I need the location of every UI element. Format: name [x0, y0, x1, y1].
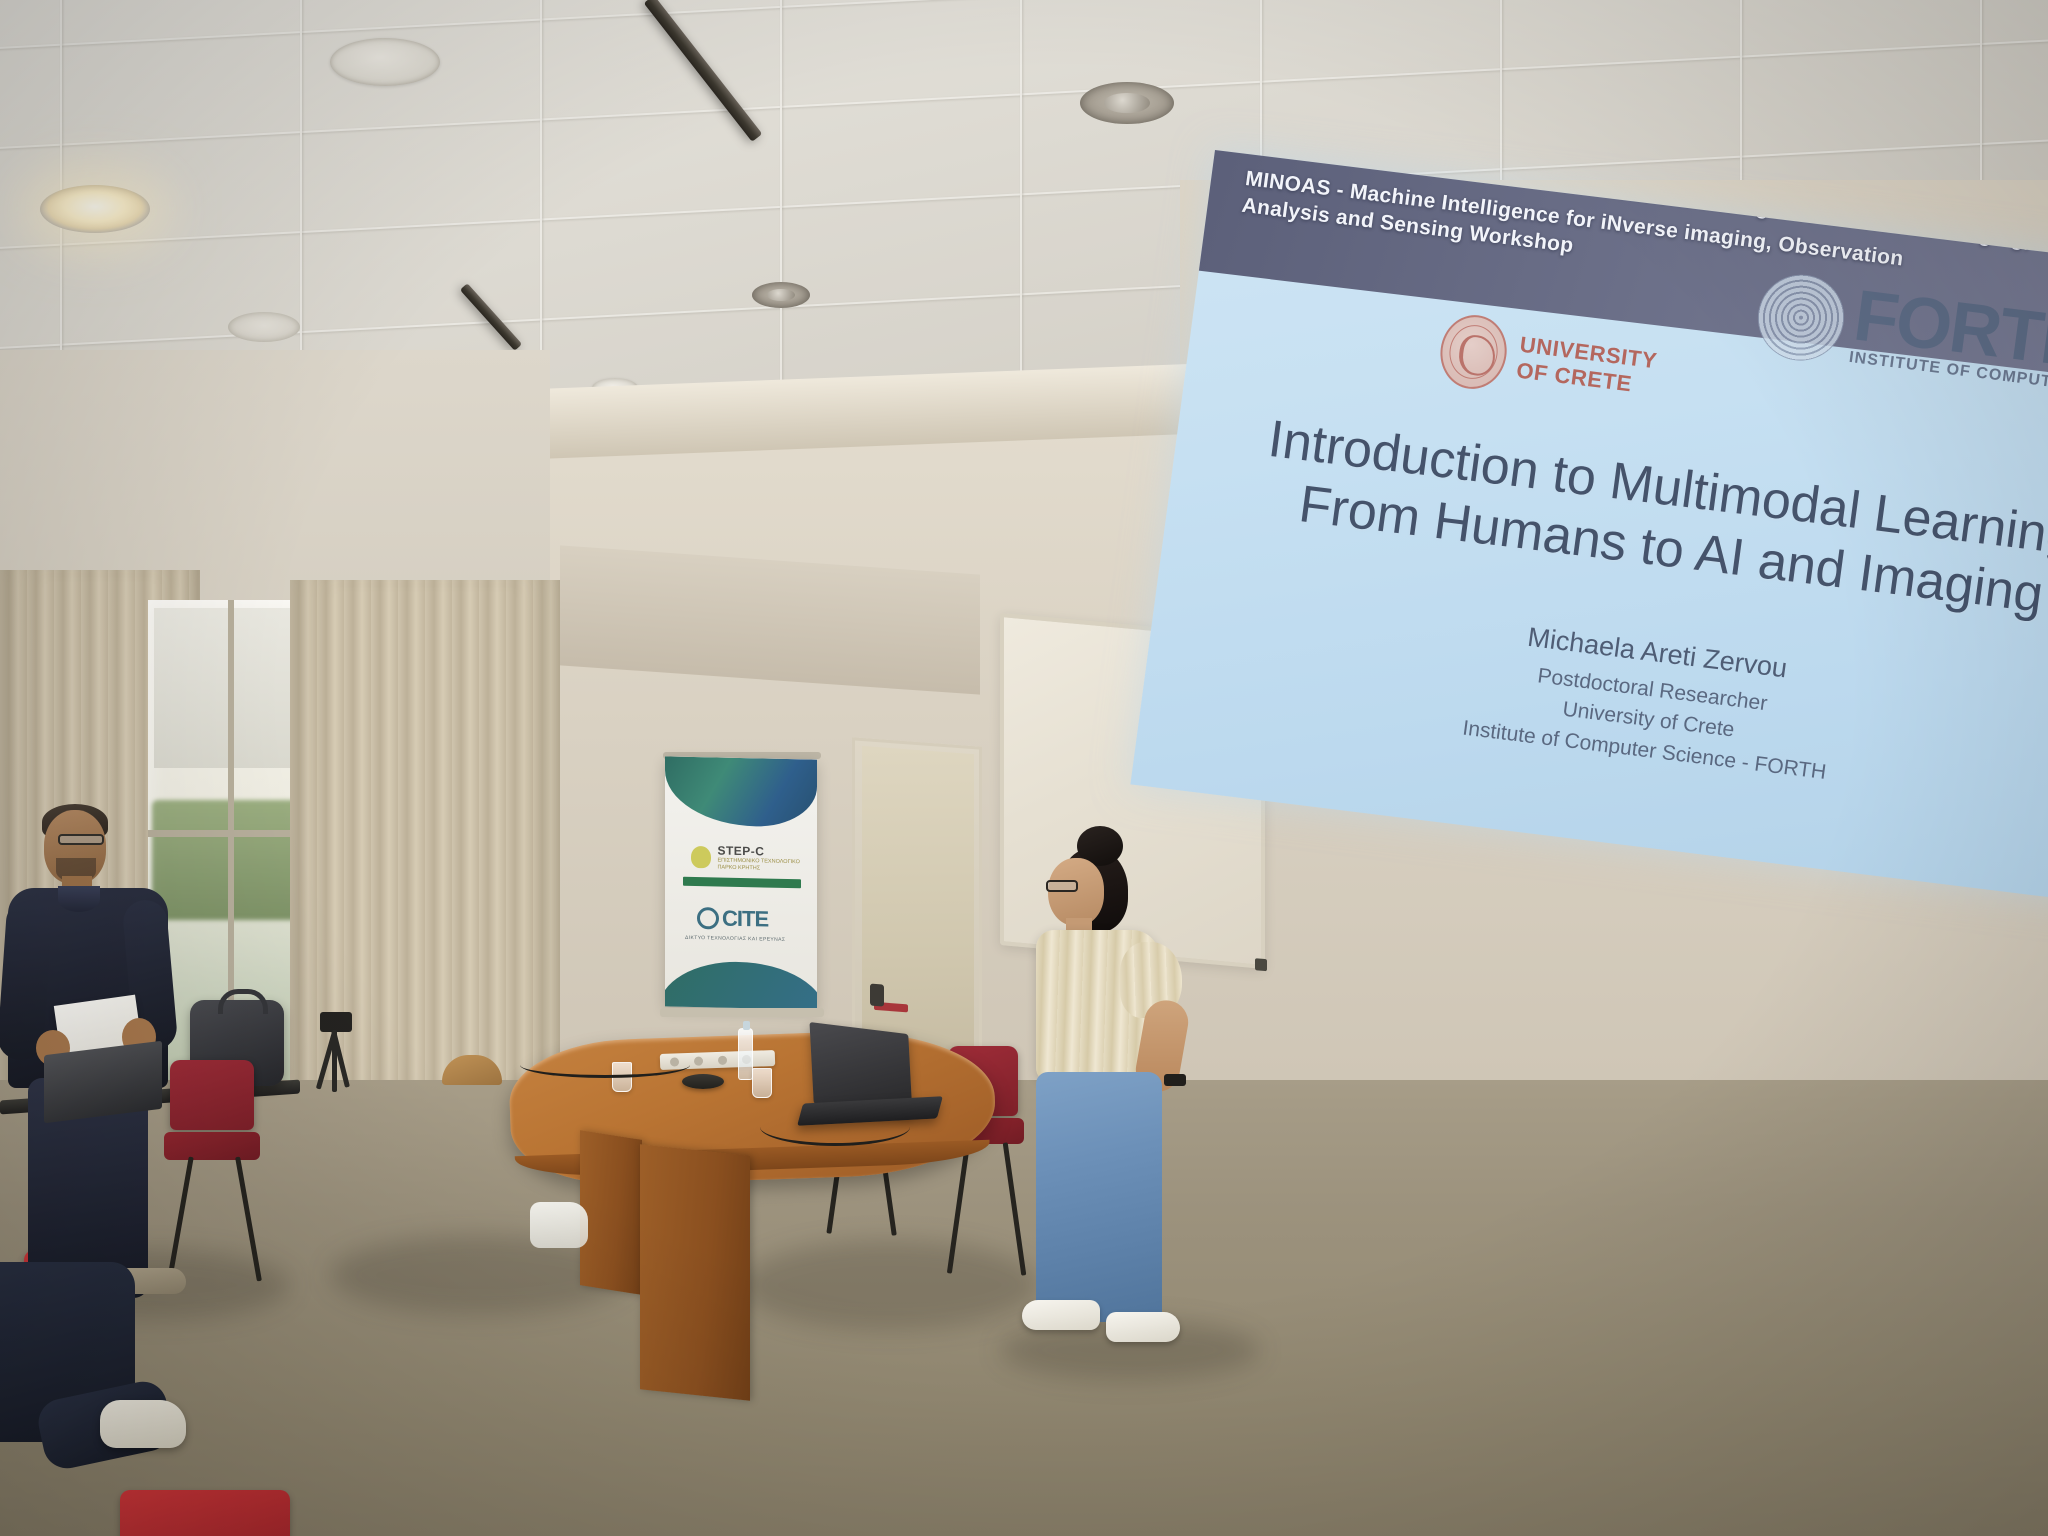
- presenter-head: [1048, 858, 1104, 926]
- banner-green-bar: [683, 877, 801, 888]
- presenter-wristwatch: [1164, 1074, 1186, 1086]
- uoc-seal-icon: [1436, 311, 1511, 392]
- power-cable: [760, 1108, 910, 1146]
- presentation-slide: Artificial Intelligence for iNverse imag…: [1130, 150, 2048, 907]
- ceiling-speaker: [330, 38, 440, 86]
- presenter-glasses: [1046, 880, 1078, 892]
- power-cable: [520, 1052, 690, 1078]
- ceiling-downlight: [228, 312, 300, 342]
- stepc-logo: STEP-C ΕΠΙΣΤΗΜΟΝΙΚΟ ΤΕΧΝΟΛΟΓΙΚΟ ΠΑΡΚΟ ΚΡ…: [691, 843, 817, 873]
- table-leg: [580, 1130, 642, 1295]
- rollup-banner: STEP-C ΕΠΙΣΤΗΜΟΝΙΚΟ ΤΕΧΝΟΛΟΓΙΚΟ ΠΑΡΚΟ ΚΡ…: [665, 756, 817, 1009]
- banner-wave-bottom: [665, 960, 817, 1009]
- slide-author-block: Michaela Areti Zervou Postdoctoral Resea…: [1181, 581, 2048, 823]
- plastic-bag: [530, 1202, 588, 1248]
- conference-microphone: [682, 1074, 724, 1089]
- conference-room-photo: STEP-C ΕΠΙΣΤΗΜΟΝΙΚΟ ΤΕΧΝΟΛΟΓΙΚΟ ΠΑΡΚΟ ΚΡ…: [0, 0, 2048, 1536]
- presenter-left-sneaker: [1022, 1300, 1100, 1330]
- projection-screen: Artificial Intelligence for iNverse imag…: [1112, 150, 2048, 1033]
- presenter-right-sneaker: [1106, 1312, 1180, 1342]
- table-leg: [640, 1144, 750, 1401]
- water-bottle: [738, 1028, 753, 1080]
- cite-logo: CITE: [697, 905, 768, 932]
- drinking-glass: [752, 1068, 772, 1098]
- door-handle[interactable]: [874, 1002, 908, 1012]
- attendee-sneaker: [100, 1400, 186, 1448]
- cite-wordmark: CITE: [722, 906, 768, 933]
- forth-labyrinth-icon: [1753, 270, 1850, 366]
- presenter-jeans: [1036, 1072, 1162, 1322]
- banner-wave-top: [665, 756, 817, 827]
- tripod-leg: [332, 1030, 337, 1092]
- uoc-wordmark: UNIVERSITY OF CRETE: [1515, 331, 1659, 400]
- university-of-crete-logo: UNIVERSITY OF CRETE: [1436, 311, 1660, 411]
- cite-circle-icon: [697, 907, 719, 929]
- stepc-subtitle: ΕΠΙΣΤΗΜΟΝΙΚΟ ΤΕΧΝΟΛΟΓΙΚΟ ΠΑΡΚΟ ΚΡΗΤΗΣ: [717, 858, 817, 874]
- camera-on-tripod: [320, 1012, 352, 1032]
- man-collar: [58, 886, 100, 912]
- ceiling-vent: [1080, 82, 1174, 124]
- ceiling-downlight: [40, 185, 150, 233]
- rollup-banner-base: [660, 1008, 824, 1017]
- stepc-mark-icon: [691, 846, 711, 868]
- cite-subtitle: ΔΙΚΤΥΟ ΤΕΧΝΟΛΟΓΙΑΣ ΚΑΙ ΕΡΕΥΝΑΣ: [685, 935, 785, 943]
- man-glasses: [58, 834, 104, 845]
- ceiling-vent: [752, 282, 810, 308]
- laptop-on-side-table[interactable]: [44, 1041, 162, 1123]
